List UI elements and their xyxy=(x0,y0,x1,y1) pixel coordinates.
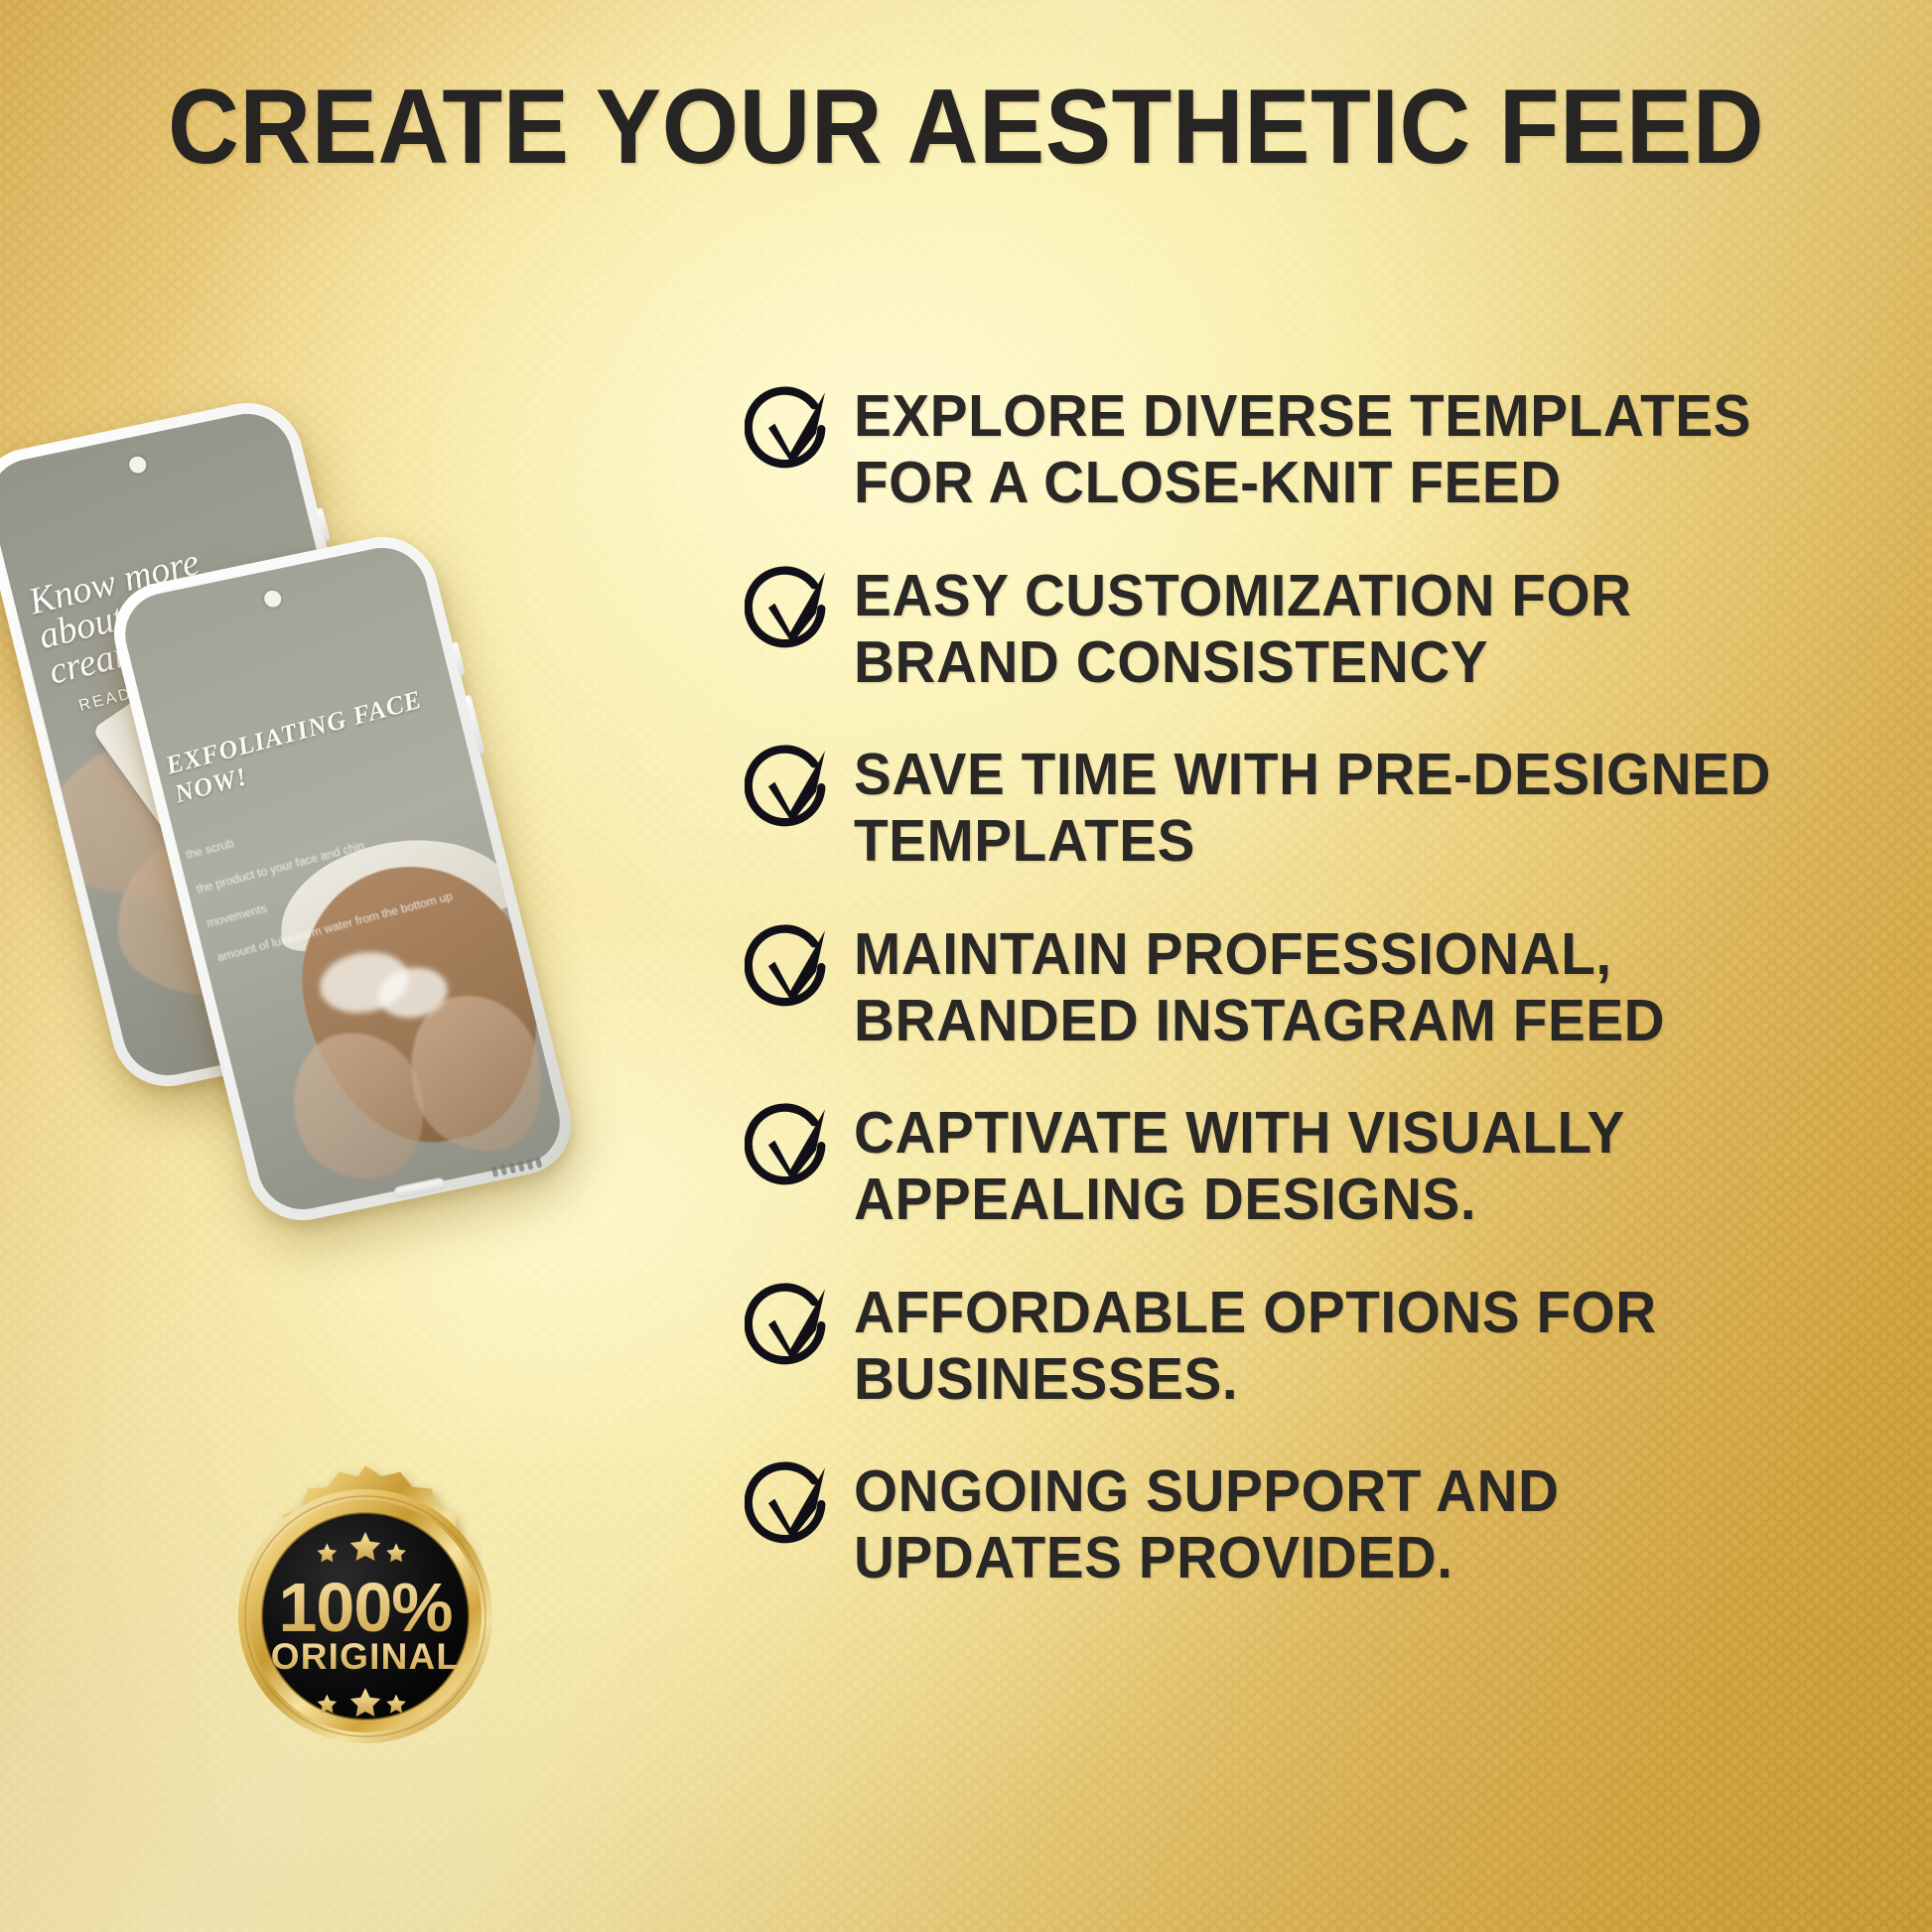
phone-mockups-group: Know more about eye cream. READ THE CAPT… xyxy=(0,397,695,1191)
badge-label: ORIGINAL xyxy=(271,1636,460,1677)
badge-percent: 100% xyxy=(278,1569,452,1646)
check-circle-icon xyxy=(745,923,836,1015)
list-item: MAINTAIN PROFESSIONAL, BRANDED INSTAGRAM… xyxy=(745,921,1896,1055)
poster-canvas: CREATE YOUR AESTHETIC FEED Know more abo… xyxy=(0,0,1932,1932)
list-item: SAVE TIME WITH PRE-DESIGNED TEMPLATES xyxy=(745,742,1896,876)
list-item-line: TEMPLATES xyxy=(854,808,1195,874)
check-circle-icon xyxy=(745,385,836,477)
list-item-line: EASY CUSTOMIZATION FOR xyxy=(854,563,1632,628)
phone-side-button xyxy=(452,641,466,675)
list-item: AFFORDABLE OPTIONS FOR BUSINESSES. xyxy=(745,1280,1896,1414)
page-title: CREATE YOUR AESTHETIC FEED xyxy=(68,73,1864,180)
check-circle-icon xyxy=(745,1102,836,1193)
list-item-label: CAPTIVATE WITH VISUALLY APPEALING DESIGN… xyxy=(854,1100,1625,1234)
original-seal-badge: 100% ORIGINAL xyxy=(207,1457,524,1775)
list-item-line: AFFORDABLE OPTIONS FOR xyxy=(854,1280,1657,1345)
list-item-line: APPEALING DESIGNS. xyxy=(854,1167,1476,1232)
list-item: EXPLORE DIVERSE TEMPLATES FOR A CLOSE-KN… xyxy=(745,383,1896,517)
phone-side-button xyxy=(317,507,331,541)
list-item-line: ONGOING SUPPORT AND xyxy=(854,1458,1560,1524)
list-item-line: EXPLORE DIVERSE TEMPLATES xyxy=(854,383,1751,449)
check-circle-icon xyxy=(745,1460,836,1552)
check-circle-icon xyxy=(745,1282,836,1373)
list-item-line: UPDATES PROVIDED. xyxy=(854,1525,1453,1590)
check-circle-icon xyxy=(745,744,836,835)
phone-screen-front: EXFOLIATING FACE NOW! the scrub the prod… xyxy=(116,540,569,1217)
list-item-label: AFFORDABLE OPTIONS FOR BUSINESSES. xyxy=(854,1280,1657,1414)
list-item-line: BRANDED INSTAGRAM FEED xyxy=(854,988,1665,1053)
list-item-line: SAVE TIME WITH PRE-DESIGNED xyxy=(854,742,1771,807)
list-item-line: MAINTAIN PROFESSIONAL, xyxy=(854,921,1612,987)
list-item-line: FOR A CLOSE-KNIT FEED xyxy=(854,450,1562,515)
list-item: CAPTIVATE WITH VISUALLY APPEALING DESIGN… xyxy=(745,1100,1896,1234)
list-item: ONGOING SUPPORT AND UPDATES PROVIDED. xyxy=(745,1458,1896,1592)
benefits-list: EXPLORE DIVERSE TEMPLATES FOR A CLOSE-KN… xyxy=(745,383,1896,1592)
list-item-label: EXPLORE DIVERSE TEMPLATES FOR A CLOSE-KN… xyxy=(854,383,1751,517)
list-item-label: MAINTAIN PROFESSIONAL, BRANDED INSTAGRAM… xyxy=(854,921,1665,1055)
phone-volume-button xyxy=(465,695,484,754)
list-item-label: EASY CUSTOMIZATION FOR BRAND CONSISTENCY xyxy=(854,563,1632,697)
phone-mockup-front: EXFOLIATING FACE NOW! the scrub the prod… xyxy=(103,527,583,1230)
list-item-label: ONGOING SUPPORT AND UPDATES PROVIDED. xyxy=(854,1458,1560,1592)
list-item-line: BRAND CONSISTENCY xyxy=(854,629,1488,695)
list-item-line: CAPTIVATE WITH VISUALLY xyxy=(854,1100,1625,1166)
list-item-label: SAVE TIME WITH PRE-DESIGNED TEMPLATES xyxy=(854,742,1771,876)
check-circle-icon xyxy=(745,565,836,656)
list-item-line: BUSINESSES. xyxy=(854,1346,1238,1412)
list-item: EASY CUSTOMIZATION FOR BRAND CONSISTENCY xyxy=(745,563,1896,697)
